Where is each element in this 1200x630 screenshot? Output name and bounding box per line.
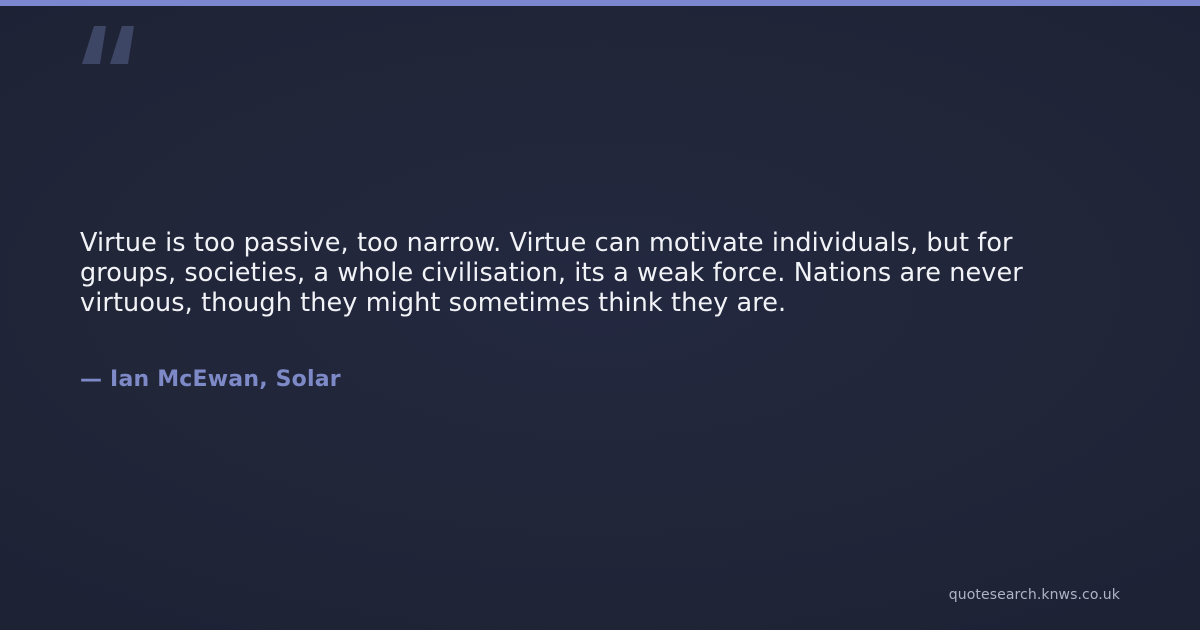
double-quote-icon [80, 18, 140, 88]
quote-card: Virtue is too passive, too narrow. Virtu… [0, 0, 1200, 630]
top-accent-bar [0, 0, 1200, 6]
site-url-label: quotesearch.knws.co.uk [949, 586, 1120, 604]
quote-text: Virtue is too passive, too narrow. Virtu… [80, 228, 1090, 318]
quote-content: Virtue is too passive, too narrow. Virtu… [80, 228, 1090, 393]
quote-attribution: — Ian McEwan, Solar [80, 318, 1090, 393]
